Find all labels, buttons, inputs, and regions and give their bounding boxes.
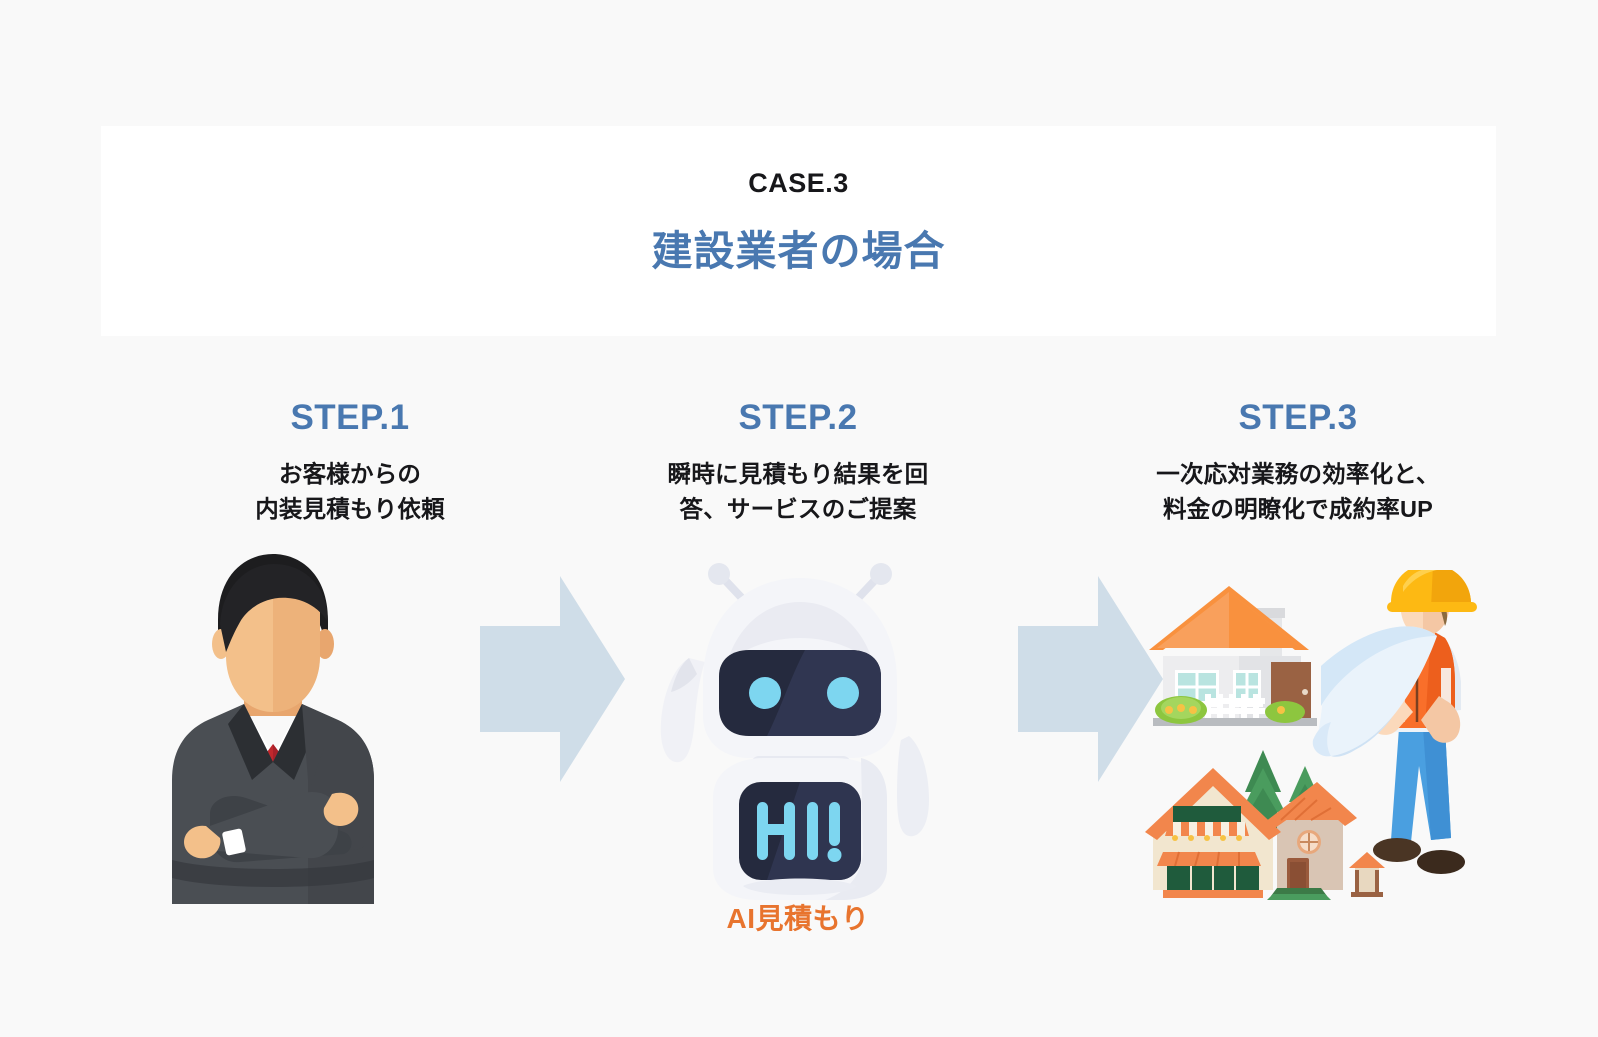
step-3-description-line-1: 一次応対業務の効率化と、	[1063, 457, 1533, 492]
ai-estimate-caption: AI見積もり	[578, 897, 1018, 937]
arrow-step2-to-step3-icon	[1018, 576, 1163, 782]
step-3-description-line-2: 料金の明瞭化で成約率UP	[1063, 492, 1533, 527]
step-3-description: 一次応対業務の効率化と、 料金の明瞭化で成約率UP	[1063, 457, 1533, 527]
step-1-description-line-2: 内装見積もり依頼	[120, 492, 580, 527]
header-card: CASE.3 建設業者の場合	[101, 126, 1496, 336]
step-1: STEP.1 お客様からの 内装見積もり依頼	[120, 400, 580, 527]
step-2-label: STEP.2	[578, 400, 1018, 435]
businessman-illustration	[148, 548, 398, 904]
step-2-description: 瞬時に見積もり結果を回 答、サービスのご提案	[578, 457, 1018, 527]
step-3: STEP.3 一次応対業務の効率化と、 料金の明瞭化で成約率UP	[1063, 400, 1533, 527]
step-2-description-line-2: 答、サービスのご提案	[578, 492, 1018, 527]
step-1-description-line-1: お客様からの	[120, 457, 580, 492]
step-1-description: お客様からの 内装見積もり依頼	[120, 457, 580, 527]
step-3-label: STEP.3	[1063, 400, 1533, 435]
step-2-description-line-1: 瞬時に見積もり結果を回	[578, 457, 1018, 492]
chatbot-robot-illustration	[655, 550, 945, 900]
step-1-label: STEP.1	[120, 400, 580, 435]
arrow-step1-to-step2-icon	[480, 576, 625, 782]
step-2: STEP.2 瞬時に見積もり結果を回 答、サービスのご提案	[578, 400, 1018, 527]
case-label: CASE.3	[748, 170, 849, 197]
house-and-worker-illustration	[1145, 570, 1485, 900]
page-title: 建設業者の場合	[652, 231, 946, 272]
slide-root: CASE.3 建設業者の場合 STEP.1 お客様からの 内装見積もり依頼 ST…	[0, 0, 1598, 1037]
